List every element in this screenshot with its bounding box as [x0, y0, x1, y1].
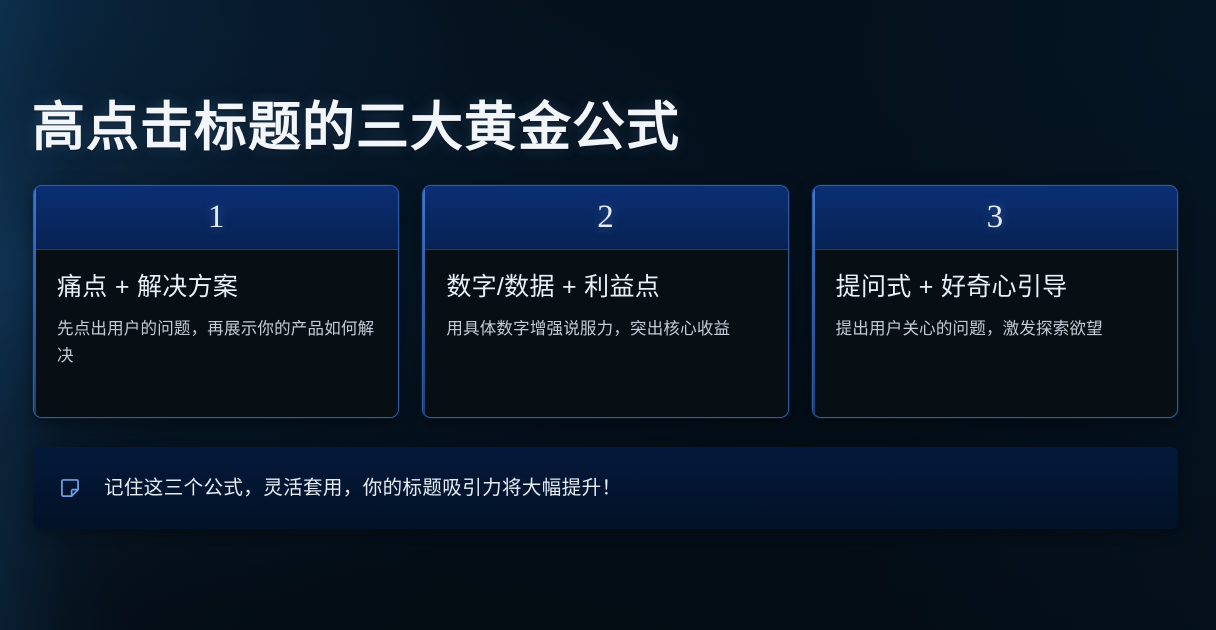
- card-body-1: 痛点 + 解决方案 先点出用户的问题，再展示你的产品如何解决: [34, 250, 398, 417]
- card-number-1: 1: [208, 201, 225, 234]
- card-title-1: 痛点 + 解决方案: [57, 272, 378, 302]
- slide-canvas: 高点击标题的三大黄金公式 1 痛点 + 解决方案 先点出用户的问题，再展示你的产…: [0, 0, 1216, 630]
- formula-card-1[interactable]: 1 痛点 + 解决方案 先点出用户的问题，再展示你的产品如何解决: [33, 185, 399, 418]
- card-title-2: 数字/数据 + 利益点: [446, 272, 767, 302]
- card-body-3: 提问式 + 好奇心引导 提出用户关心的问题，激发探索欲望: [813, 250, 1177, 417]
- formula-card-list: 1 痛点 + 解决方案 先点出用户的问题，再展示你的产品如何解决 2 数字/数据…: [33, 185, 1178, 418]
- card-number-3: 3: [987, 201, 1004, 234]
- card-description-3: 提出用户关心的问题，激发探索欲望: [836, 316, 1156, 343]
- card-body-2: 数字/数据 + 利益点 用具体数字增强说服力，突出核心收益: [423, 250, 787, 417]
- card-number-2: 2: [597, 201, 614, 234]
- page-title: 高点击标题的三大黄金公式: [32, 98, 680, 159]
- card-title-3: 提问式 + 好奇心引导: [836, 272, 1157, 302]
- card-description-2: 用具体数字增强说服力，突出核心收益: [446, 316, 766, 343]
- formula-card-3[interactable]: 3 提问式 + 好奇心引导 提出用户关心的问题，激发探索欲望: [812, 185, 1178, 418]
- sticky-note-icon: [59, 477, 81, 499]
- card-header-2: 2: [423, 186, 787, 250]
- note-banner-text: 记住这三个公式，灵活套用，你的标题吸引力将大幅提升！: [104, 475, 621, 501]
- card-header-3: 3: [813, 186, 1177, 250]
- card-header-1: 1: [34, 186, 398, 250]
- note-banner: 记住这三个公式，灵活套用，你的标题吸引力将大幅提升！: [33, 447, 1178, 529]
- formula-card-2[interactable]: 2 数字/数据 + 利益点 用具体数字增强说服力，突出核心收益: [422, 185, 788, 418]
- card-description-1: 先点出用户的问题，再展示你的产品如何解决: [57, 316, 377, 369]
